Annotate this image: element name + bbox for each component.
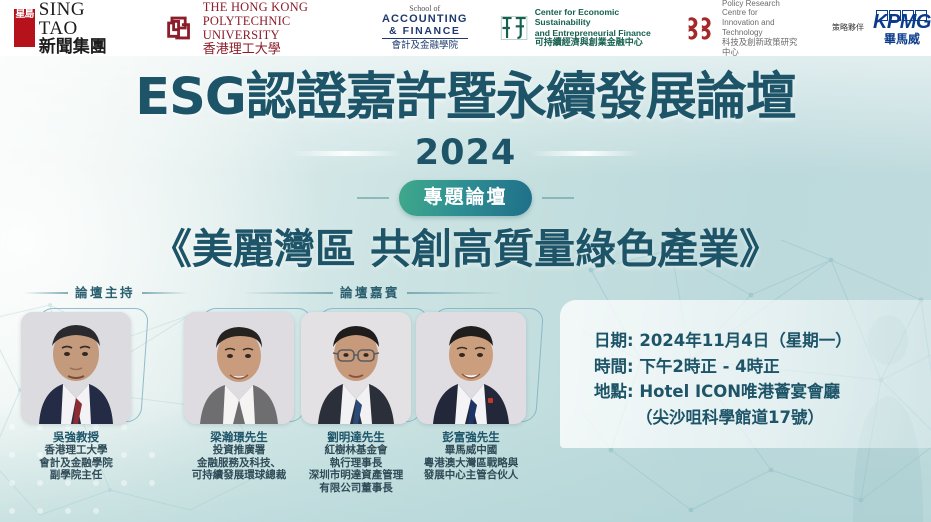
esg-forum-poster: 星島 SING TAO 新聞集團 THE HONG KONG POLYTECHN…: [0, 0, 931, 522]
logo-prcit: Policy Research Centre for Innovation an…: [687, 0, 801, 57]
accounting-line4: 會計及金融學院: [382, 40, 468, 52]
speaker-org-line: 粵港澳大灣區戰略與: [407, 457, 535, 470]
accounting-line2: ACCOUNTING: [382, 13, 468, 25]
kpmg-wordmark: KPMG: [873, 12, 931, 32]
sing-tao-mark-icon: 星島: [14, 9, 35, 47]
section-header-host: 論壇主持: [24, 286, 188, 300]
year-accent-line-right: [530, 151, 640, 156]
logo-school-of-accounting-and-finance: School of ACCOUNTING & FINANCE 會計及金融學院: [382, 4, 468, 52]
year-accent-line-left: [291, 151, 401, 156]
speaker-org-line: 投資推廣署: [175, 444, 303, 457]
logo-sing-tao: 星島 SING TAO 新聞集團: [14, 0, 114, 57]
event-time: 時間: 下午2時正 - 4時正: [594, 354, 924, 380]
prcit-mark-icon: [687, 13, 715, 43]
section-line-left: [24, 292, 68, 294]
sing-tao-english: SING TAO: [39, 0, 114, 38]
polyu-english-line1: THE HONG KONG: [203, 0, 342, 14]
speaker-org-line: 會計及金融學院: [12, 457, 140, 470]
section-header-guest: 論壇嘉賓: [243, 286, 503, 300]
speaker-org-line: 副學院主任: [12, 469, 140, 482]
event-subtitle: 《美麗灣區 共創高質量綠色產業》: [0, 223, 931, 275]
speaker-org-line: 發展中心主管合伙人: [407, 469, 535, 482]
event-details-panel: 日期: 2024年11月4日（星期一） 時間: 下午2時正 - 4時正 地點: …: [560, 300, 931, 448]
speaker-name: 彭富強先生: [407, 431, 535, 444]
speaker-portrait: [21, 312, 131, 424]
forum-badge: 專題論壇: [399, 180, 531, 216]
speaker-card: 劉明達先生 紅樹林基金會 執行理事長 深圳市明達資產管理 有限公司董事長: [292, 312, 420, 494]
speaker-org-line: 畢馬威中國: [407, 444, 535, 457]
logo-polyu: THE HONG KONG POLYTECHNIC UNIVERSITY 香港理…: [162, 0, 342, 57]
section-line-right: [407, 292, 503, 294]
section-guest-label: 論壇嘉賓: [340, 286, 400, 300]
prcit-english-line2: Innovation and Technology: [722, 18, 801, 37]
speaker-name: 吳強教授: [12, 431, 140, 444]
cesef-mark-icon: [500, 12, 528, 44]
speaker-name: 劉明達先生: [292, 431, 420, 444]
speaker-org-line: 香港理工大學: [12, 444, 140, 457]
speaker-org-line: 深圳市明達資產管理: [292, 469, 420, 482]
polyu-knot-icon: [162, 8, 195, 48]
section-line-right: [142, 292, 188, 294]
speaker-portrait: [301, 312, 411, 424]
speaker-org-line: 金融服務及科技、: [175, 457, 303, 470]
speaker-org-line: 執行理事長: [292, 457, 420, 470]
speaker-org-line: 紅樹林基金會: [292, 444, 420, 457]
event-title: ESG認證嘉許暨永續發展論壇: [0, 68, 931, 128]
accounting-line3: & FINANCE: [382, 25, 468, 39]
prcit-english-line1: Policy Research Centre for: [722, 0, 801, 18]
logo-kpmg: 策略夥伴 KPMG 畢馬威: [831, 10, 931, 46]
sing-tao-mark-char1: 星島: [14, 9, 35, 22]
speaker-card: 彭富強先生 畢馬威中國 粵港澳大灣區戰略與 發展中心主管合伙人: [407, 312, 535, 482]
polyu-chinese: 香港理工大學: [203, 42, 342, 57]
kpmg-partner-label: 策略夥伴: [831, 23, 865, 33]
cesef-english-line2: and Entrepreneurial Finance: [535, 28, 653, 38]
event-year: 2024: [415, 133, 516, 173]
speaker-org-line: 有限公司董事長: [292, 482, 420, 495]
speaker-org-line: 可持續發展環球總裁: [175, 469, 303, 482]
forum-badge-row: 專題論壇: [0, 180, 931, 216]
event-date: 日期: 2024年11月4日（星期一）: [594, 328, 924, 354]
event-address: （尖沙咀科學館道17號）: [594, 405, 924, 431]
sponsor-logo-bar: 星島 SING TAO 新聞集團 THE HONG KONG POLYTECHN…: [0, 0, 931, 56]
polyu-english-line2: POLYTECHNIC UNIVERSITY: [203, 14, 342, 42]
speaker-card: 梁瀚璟先生 投資推廣署 金融服務及科技、 可持續發展環球總裁: [175, 312, 303, 482]
event-year-row: 2024: [0, 133, 931, 173]
section-line-left: [243, 292, 333, 294]
section-host-label: 論壇主持: [75, 286, 135, 300]
event-venue: 地點: Hotel ICON唯港薈宴會廳: [594, 379, 924, 405]
logo-cesef: Center for Economic Sustainability and E…: [500, 7, 653, 49]
speaker-portrait: [416, 312, 526, 424]
kpmg-chinese: 畢馬威: [873, 32, 931, 46]
sing-tao-chinese: 新聞集團: [39, 38, 114, 57]
speaker-card: 吳強教授 香港理工大學 會計及金融學院 副學院主任: [12, 312, 140, 482]
badge-line-left: [357, 197, 389, 199]
accounting-line1: School of: [382, 4, 468, 13]
prcit-chinese: 科技及創新政策研究中心: [722, 37, 801, 57]
cesef-english-line1: Center for Economic Sustainability: [535, 7, 653, 28]
speaker-portrait: [184, 312, 294, 424]
speaker-name: 梁瀚璟先生: [175, 431, 303, 444]
cesef-chinese: 可持續經濟與創業金融中心: [535, 38, 653, 49]
badge-line-right: [542, 197, 574, 199]
